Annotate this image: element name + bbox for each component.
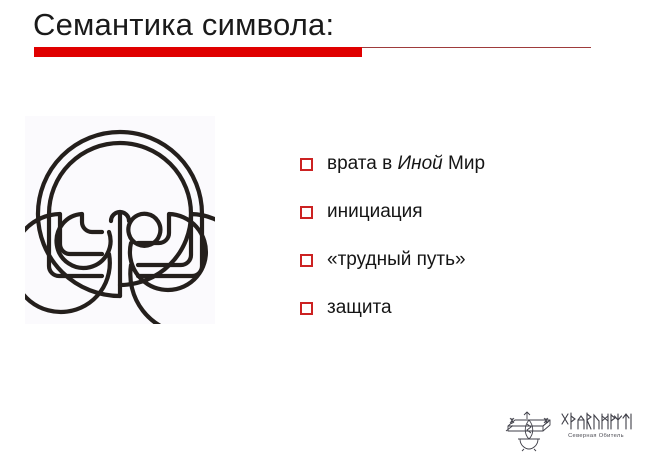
logo-caption: Северная Обитель (558, 433, 634, 440)
logo-wordmark: Северная Обитель (560, 408, 632, 440)
title-underline-thick (34, 47, 362, 57)
list-item-label: «трудный путь» (327, 248, 466, 272)
slide-canvas: Семантика символа: (0, 0, 651, 470)
list-item-text-prefix: инициация (327, 201, 423, 222)
list-item-text-prefix: врата в (327, 153, 398, 174)
list-item[interactable]: инициация (300, 188, 630, 236)
footer-logo[interactable]: Северная Обитель (502, 408, 632, 456)
title-underline-thin (362, 47, 591, 48)
square-bullet-icon (300, 158, 313, 171)
list-item-text-emphasis: Иной (398, 153, 443, 174)
bullet-list: врата в Иной Мир инициация «трудный путь… (300, 140, 630, 332)
square-bullet-icon (300, 302, 313, 315)
list-item-text-prefix: «трудный путь» (327, 249, 466, 270)
list-item[interactable]: врата в Иной Мир (300, 140, 630, 188)
list-item-text-prefix: защита (327, 297, 392, 318)
list-item-label: врата в Иной Мир (327, 152, 485, 176)
runic-inscription-icon (560, 411, 632, 433)
list-item[interactable]: защита (300, 284, 630, 332)
list-item-label: защита (327, 296, 392, 320)
square-bullet-icon (300, 206, 313, 219)
list-item[interactable]: «трудный путь» (300, 236, 630, 284)
labyrinth-image (25, 116, 215, 324)
list-item-label: инициация (327, 200, 423, 224)
list-item-text-suffix: Мир (443, 153, 485, 174)
labyrinth-icon (25, 116, 215, 324)
page-title: Семантика символа: (33, 4, 593, 48)
northern-abode-emblem-icon (502, 408, 556, 452)
square-bullet-icon (300, 254, 313, 267)
